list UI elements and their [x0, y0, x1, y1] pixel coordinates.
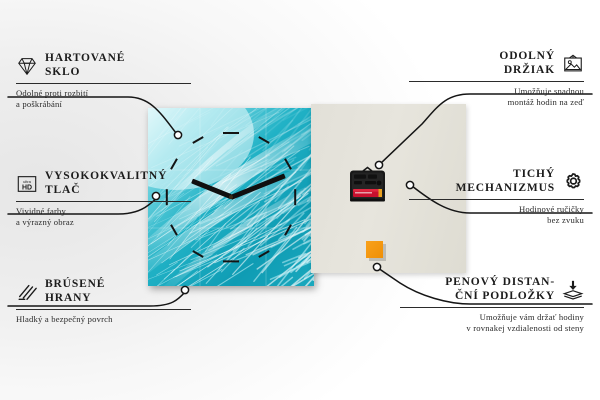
product-infographic: HARTOVANÉ SKLO Odolné proti rozbití a po… [0, 0, 600, 400]
clock-tick [223, 260, 239, 262]
foam-spacer-pad [366, 241, 383, 258]
feature-desc-line1: Hodinové ručičky [409, 204, 584, 215]
feature-header: ODOLNÝ DRŽIAK [409, 50, 584, 77]
feature-desc-line2: montáž hodin na zeď [409, 97, 584, 108]
feature-desc-line2: a výrazný obraz [16, 217, 191, 228]
feature-divider [409, 199, 584, 200]
feature-desc-line2: a poškrábání [16, 99, 191, 110]
feature-silent-mechanism: TICHÝ MECHANIZMUS Hodinové ručičky bez z… [409, 168, 584, 226]
feature-title-line2: SKLO [45, 66, 125, 80]
feature-title-line1: PENOVÝ DISTAN- [445, 276, 555, 290]
feature-foam-spacers: PENOVÝ DISTAN- ČNÍ PODLOŽKY Umožňuje vám… [400, 276, 584, 334]
feature-divider [409, 81, 584, 82]
feature-title-line2: TLAČ [45, 184, 167, 198]
feature-header: ultra HD VYSOKOKVALITNÝ TLAČ [16, 170, 191, 197]
ground-edges-icon [16, 281, 38, 303]
clock-tick [223, 132, 239, 134]
feature-desc-line1: Hladký a bezpečný povrch [16, 314, 191, 325]
feature-divider [16, 83, 191, 84]
feature-divider [16, 309, 191, 310]
svg-text:ultra: ultra [23, 179, 32, 184]
feature-header: BRÚSENÉ HRANY [16, 278, 191, 305]
clock-tick [294, 189, 296, 205]
clock-center-pin [229, 195, 233, 199]
feature-title-line1: TICHÝ [456, 168, 555, 182]
picture-hanger-icon [562, 53, 584, 75]
feature-durable-hanger: ODOLNÝ DRŽIAK Umožňuje snadnou montáž ho… [409, 50, 584, 108]
clock-mechanism [348, 166, 387, 204]
gear-icon [562, 171, 584, 193]
feature-header: HARTOVANÉ SKLO [16, 52, 191, 79]
foam-spacer-icon [562, 279, 584, 301]
feature-header: PENOVÝ DISTAN- ČNÍ PODLOŽKY [400, 276, 584, 303]
feature-desc-line1: Odolné proti rozbití [16, 88, 191, 99]
svg-text:HD: HD [22, 184, 32, 191]
feature-high-quality-print: ultra HD VYSOKOKVALITNÝ TLAČ Vividné far… [16, 170, 191, 228]
feature-desc-line1: Umožňuje snadnou [409, 86, 584, 97]
diamond-icon [16, 55, 38, 77]
feature-title-line2: MECHANIZMUS [456, 182, 555, 196]
feature-title-line2: HRANY [45, 292, 105, 306]
feature-tempered-glass: HARTOVANÉ SKLO Odolné proti rozbití a po… [16, 52, 191, 110]
feature-desc-line1: Vividné farby [16, 206, 191, 217]
feature-title-line1: ODOLNÝ [499, 50, 555, 64]
feature-title-line1: VYSOKOKVALITNÝ [45, 170, 167, 184]
feature-desc-line2: bez zvuku [409, 215, 584, 226]
feature-divider [16, 201, 191, 202]
feature-title-line2: ČNÍ PODLOŽKY [445, 290, 555, 304]
feature-title-line1: BRÚSENÉ [45, 278, 105, 292]
feature-divider [400, 307, 584, 308]
feature-ground-edges: BRÚSENÉ HRANY Hladký a bezpečný povrch [16, 278, 191, 325]
feature-desc-line1: Umožňuje vám držať hodiny [400, 312, 584, 323]
feature-desc-line2: v rovnakej vzdialenosti od steny [400, 323, 584, 334]
ultra-hd-icon: ultra HD [16, 173, 38, 195]
feature-header: TICHÝ MECHANIZMUS [409, 168, 584, 195]
feature-title-line2: DRŽIAK [499, 64, 555, 78]
feature-title-line1: HARTOVANÉ [45, 52, 125, 66]
